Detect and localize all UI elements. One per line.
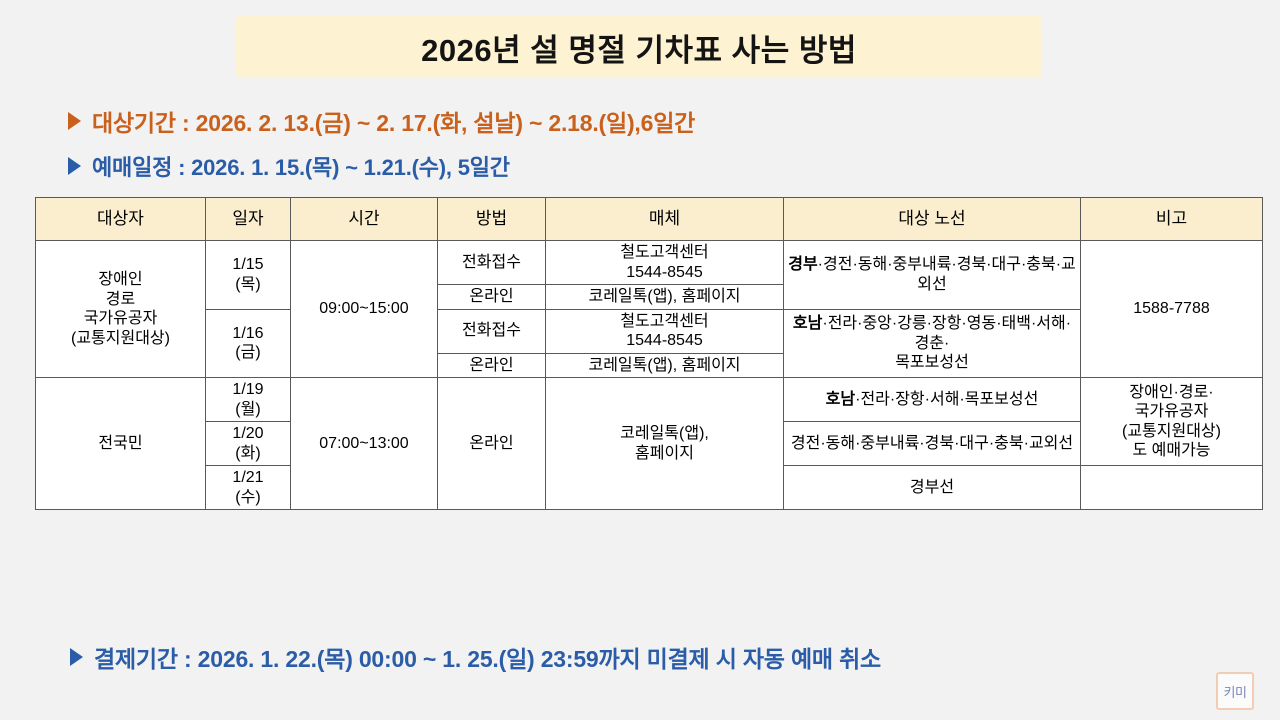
cell-note-public: 장애인·경로· 국가유공자 (교통지원대상) 도 예매가능 (1081, 378, 1263, 466)
cell-channel-phone-0116: 철도고객센터 1544-8545 (546, 309, 784, 353)
target-line-3: 국가유공자 (39, 309, 202, 329)
header-date: 일자 (206, 198, 291, 241)
cell-method-online-public: 온라인 (438, 378, 546, 510)
header-target: 대상자 (36, 198, 206, 241)
lines-lead-honam: 호남 (826, 391, 855, 408)
channel-phone-name: 철도고객센터 (549, 312, 780, 332)
channel-line-1: 코레일톡(앱), (549, 424, 780, 444)
date-line-1: 1/21 (209, 468, 287, 488)
date-line-1: 1/19 (209, 380, 287, 400)
target-line-2: 경로 (39, 290, 202, 310)
channel-phone-number: 1544-8545 (549, 263, 780, 283)
bullet-payment-period: 결제기간 : 2026. 1. 22.(목) 00:00 ~ 1. 25.(일)… (70, 640, 881, 674)
cell-channel-online-0116: 코레일톡(앱), 홈페이지 (546, 353, 784, 378)
target-line-1: 장애인 (39, 270, 202, 290)
lines-lead-honam: 호남 (793, 315, 822, 332)
date-line-1: 1/20 (209, 424, 287, 444)
table-row: 장애인 경로 국가유공자 (교통지원대상) 1/15 (목) 09:00~15:… (36, 241, 1263, 285)
cell-method-phone-0116: 전화접수 (438, 309, 546, 353)
lines-rest-honam: ·전라·장항·서해·목포보성선 (855, 391, 1038, 408)
cell-date-0119: 1/19 (월) (206, 378, 291, 422)
cell-note-phone-1588: 1588-7788 (1081, 241, 1263, 378)
cell-lines-gyeongbuseon: 경부선 (784, 466, 1081, 510)
note-line-2: 국가유공자 (1084, 402, 1259, 422)
cell-channel-phone-0115: 철도고객센터 1544-8545 (546, 241, 784, 285)
cell-target-public: 전국민 (36, 378, 206, 510)
schedule-table: 대상자 일자 시간 방법 매체 대상 노선 비고 장애인 경로 국가유공자 (교… (35, 197, 1263, 510)
lines-rest-gyeongbu: ·경전·동해·중부내륙·경북·대구·충북·교외선 (818, 256, 1076, 293)
triangle-bullet-icon (68, 112, 81, 130)
lines-rest-honam: ·전라·중앙·강릉·장항·영동·태백·서해·경춘· (822, 315, 1071, 352)
watermark-badge: 키미 (1216, 672, 1254, 710)
cell-date-0116: 1/16 (금) (206, 309, 291, 378)
cell-lines-honam-public: 호남·전라·장항·서해·목포보성선 (784, 378, 1081, 422)
date-line-2: (목) (209, 275, 287, 295)
cell-time-section1: 09:00~15:00 (291, 241, 438, 378)
cell-date-0115: 1/15 (목) (206, 241, 291, 310)
header-method: 방법 (438, 198, 546, 241)
date-line-1: 1/15 (209, 255, 287, 275)
channel-line-2: 홈페이지 (549, 444, 780, 464)
cell-time-section2: 07:00~13:00 (291, 378, 438, 510)
cell-date-0120: 1/20 (화) (206, 422, 291, 466)
date-line-1: 1/16 (209, 324, 287, 344)
triangle-bullet-icon (70, 648, 83, 666)
header-note: 비고 (1081, 198, 1263, 241)
note-line-3: (교통지원대상) (1084, 422, 1259, 442)
target-line-4: (교통지원대상) (39, 329, 202, 349)
channel-phone-number: 1544-8545 (549, 331, 780, 351)
cell-lines-etc-public: 경전·동해·중부내륙·경북·대구·충북·교외선 (784, 422, 1081, 466)
lines-lead-gyeongbu: 경부 (788, 256, 817, 273)
date-line-2: (화) (209, 444, 287, 464)
cell-lines-gyeongbu: 경부·경전·동해·중부내륙·경북·대구·충북·교외선 (784, 241, 1081, 310)
cell-target-disabled: 장애인 경로 국가유공자 (교통지원대상) (36, 241, 206, 378)
table-header-row: 대상자 일자 시간 방법 매체 대상 노선 비고 (36, 198, 1263, 241)
bullet-sale-schedule: 예매일정 : 2026. 1. 15.(목) ~ 1.21.(수), 5일간 (68, 150, 510, 182)
cell-channel-online-public: 코레일톡(앱), 홈페이지 (546, 378, 784, 510)
bullet-target-period: 대상기간 : 2026. 2. 13.(금) ~ 2. 17.(화, 설날) ~… (68, 104, 695, 138)
lines-last-honam: 목포보성선 (787, 353, 1077, 373)
schedule-table-wrapper: 대상자 일자 시간 방법 매체 대상 노선 비고 장애인 경로 국가유공자 (교… (35, 197, 1262, 510)
page-title: 2026년 설 명절 기차표 사는 방법 (421, 25, 857, 70)
table-row: 전국민 1/19 (월) 07:00~13:00 온라인 코레일톡(앱), 홈페… (36, 378, 1263, 422)
cell-note-empty (1081, 466, 1263, 510)
cell-lines-honam: 호남·전라·중앙·강릉·장항·영동·태백·서해·경춘· 목포보성선 (784, 309, 1081, 378)
cell-method-online-0116: 온라인 (438, 353, 546, 378)
table-row: 1/16 (금) 전화접수 철도고객센터 1544-8545 호남·전라·중앙·… (36, 309, 1263, 353)
date-line-2: (수) (209, 488, 287, 508)
target-period-highlight: 6일간 (641, 104, 696, 138)
note-line-4: 도 예매가능 (1084, 441, 1259, 461)
sale-schedule-text: 예매일정 : 2026. 1. 15.(목) ~ 1.21.(수), 5일간 (92, 150, 510, 182)
date-line-2: (월) (209, 400, 287, 420)
cell-method-online-0115: 온라인 (438, 285, 546, 310)
cell-channel-online-0115: 코레일톡(앱), 홈페이지 (546, 285, 784, 310)
channel-phone-name: 철도고객센터 (549, 243, 780, 263)
cell-method-phone-0115: 전화접수 (438, 241, 546, 285)
watermark-label: 키미 (1224, 682, 1247, 701)
target-period-text: 대상기간 : 2026. 2. 13.(금) ~ 2. 17.(화, 설날) ~… (92, 104, 641, 138)
date-line-2: (금) (209, 343, 287, 363)
header-channel: 매체 (546, 198, 784, 241)
cell-date-0121: 1/21 (수) (206, 466, 291, 510)
title-banner: 2026년 설 명절 기차표 사는 방법 (236, 16, 1042, 78)
header-lines: 대상 노선 (784, 198, 1081, 241)
triangle-bullet-icon (68, 157, 81, 175)
payment-period-text: 결제기간 : 2026. 1. 22.(목) 00:00 ~ 1. 25.(일)… (94, 640, 881, 674)
note-line-1: 장애인·경로· (1084, 383, 1259, 403)
header-time: 시간 (291, 198, 438, 241)
